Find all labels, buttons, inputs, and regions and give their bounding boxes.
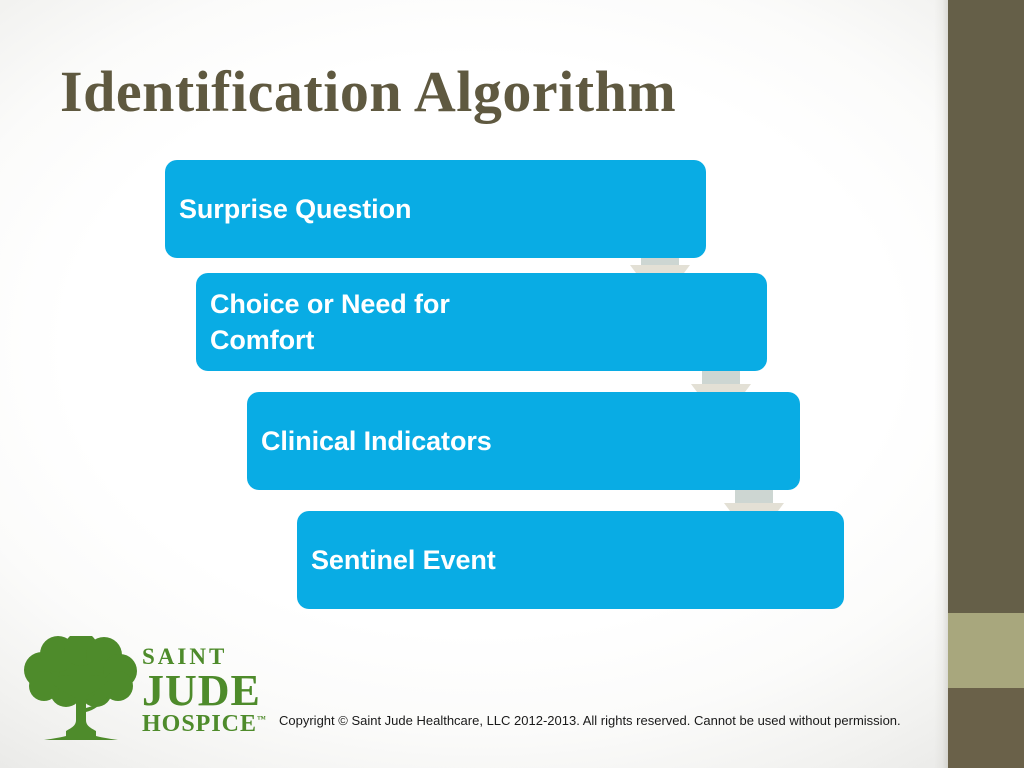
flow-node-choice-or-need-for-comfort[interactable]: Choice or Need for Comfort	[196, 273, 767, 371]
flow-node-3-label: Clinical Indicators	[261, 423, 492, 459]
logo-trademark: ™	[257, 714, 266, 724]
flow-node-sentinel-event[interactable]: Sentinel Event	[297, 511, 844, 609]
logo-line-hospice: HOSPICE™	[142, 713, 266, 736]
logo-wordmark: SAINT JUDE HOSPICE™	[142, 646, 266, 735]
flow-node-2-label: Choice or Need for Comfort	[210, 286, 540, 358]
flow-node-4-label: Sentinel Event	[311, 542, 496, 578]
flow-node-1-label: Surprise Question	[179, 191, 411, 227]
logo-line-jude: JUDE	[142, 670, 266, 712]
logo-line-saint: SAINT	[142, 646, 266, 668]
tree-icon	[22, 636, 140, 744]
copyright-notice: Copyright © Saint Jude Healthcare, LLC 2…	[279, 713, 901, 728]
logo-hospice-text: HOSPICE	[142, 711, 257, 737]
flow-node-surprise-question[interactable]: Surprise Question	[165, 160, 706, 258]
slide-canvas: Identification Algorithm Surprise Questi…	[0, 0, 1024, 768]
flow-node-clinical-indicators[interactable]: Clinical Indicators	[247, 392, 800, 490]
saint-jude-hospice-logo: SAINT JUDE HOSPICE™	[22, 636, 272, 746]
